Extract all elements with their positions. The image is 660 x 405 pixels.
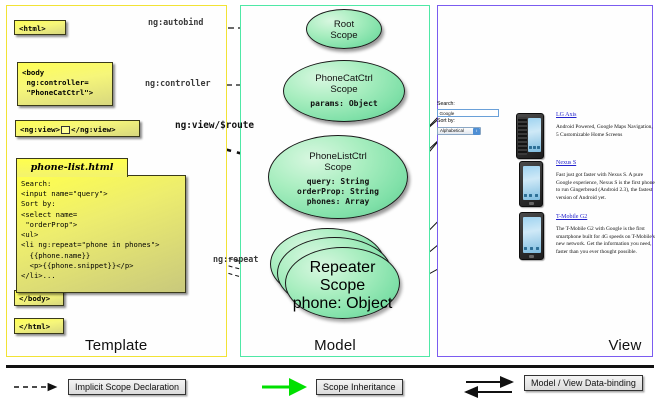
note-title: phone-list.html (16, 158, 128, 177)
ngview-placeholder-icon (61, 126, 70, 134)
scope-phonelistctrl-title-line1: PhoneListCtrl (269, 151, 407, 162)
legend-label-databinding: Model / View Data-binding (524, 375, 643, 391)
home-button-icon (529, 255, 534, 258)
sort-label: Sort by: (437, 118, 501, 126)
scope-root: Root Scope (306, 9, 382, 49)
label-ng-repeat: ng:repeat (213, 254, 258, 264)
scope-phonelistctrl: PhoneListCtrl Scope query: String orderP… (268, 135, 408, 219)
note-code: Search: <input name="query"> Sort by: <s… (16, 175, 186, 293)
scope-repeater-group: Repeater Scope phone: Object (270, 228, 400, 326)
scope-phonecatctrl-title-line2: Scope (284, 84, 404, 95)
column-label-model: Model (241, 337, 429, 354)
app-dots-icon (523, 193, 539, 198)
scope-repeater-title-line1: Repeater (286, 259, 399, 277)
app-dots-icon (529, 145, 540, 150)
scope-repeater-props: phone: Object (286, 295, 399, 313)
phone-description: The T-Mobile G2 with Google is the first… (556, 226, 656, 257)
phone-description: Fast just got faster with Nexus S. A pur… (556, 172, 656, 203)
scope-phonecatctrl: PhoneCatCtrl Scope params: Object (283, 60, 405, 122)
scope-root-title-line1: Root (307, 19, 381, 30)
ngview-open-tag: <ng:view> (20, 125, 60, 135)
phone-description: Android Powered, Google Maps Navigation,… (556, 124, 656, 139)
diagram-canvas: Template Model View <html> <body ng:cont… (0, 0, 660, 405)
scope-phonelistctrl-props: query: String orderProp: String phones: … (269, 177, 407, 208)
keyboard-icon (518, 117, 527, 155)
scope-repeater: Repeater Scope phone: Object (285, 247, 400, 319)
scope-root-title-line2: Scope (307, 30, 381, 41)
ngview-close-tag: </ng:view> (71, 125, 116, 135)
phone-thumbnail (519, 161, 543, 207)
home-button-icon (529, 202, 534, 205)
legend-divider (6, 365, 654, 368)
label-ng-controller: ng:controller (145, 78, 211, 88)
phone-name-link[interactable]: LG Axis (556, 112, 577, 118)
scope-repeater-title-line2: Scope (286, 277, 399, 295)
search-widget: Search: Google Sort by: Alphabetical ↕ (437, 101, 501, 135)
phone-name-link[interactable]: T-Mobile G2 (556, 214, 587, 220)
code-box-body-open: <body ng:controller= "PhoneCatCtrl"> (17, 62, 113, 106)
app-dots-icon (523, 246, 540, 251)
phone-thumbnail (516, 113, 544, 159)
code-box-html-close: </html> (14, 318, 64, 334)
sort-select[interactable]: Alphabetical ↕ (437, 127, 481, 136)
phone-thumbnail (519, 212, 544, 260)
scope-phonecatctrl-title-line1: PhoneCatCtrl (284, 73, 404, 84)
legend-item-implicit: Implicit Scope Declaration (68, 379, 186, 395)
legend-label-inheritance: Scope Inheritance (316, 379, 403, 395)
sort-select-value: Alphabetical (440, 127, 464, 135)
search-input[interactable]: Google (437, 109, 499, 117)
chevron-updown-icon: ↕ (473, 128, 480, 135)
legend-item-databinding: Model / View Data-binding (524, 375, 643, 391)
legend: Implicit Scope Declaration Scope Inherit… (0, 365, 660, 405)
scope-phonelistctrl-title-line2: Scope (269, 162, 407, 173)
legend-label-implicit: Implicit Scope Declaration (68, 379, 186, 395)
label-ng-autobind: ng:autobind (148, 17, 203, 27)
scope-phonecatctrl-props: params: Object (284, 99, 404, 109)
note-phone-list-html: phone-list.html Search: <input name="que… (16, 158, 186, 293)
code-box-ngview: <ng:view></ng:view> (15, 120, 140, 137)
legend-item-inheritance: Scope Inheritance (316, 379, 403, 395)
code-box-html-open: <html> (14, 20, 66, 35)
column-label-view: View (438, 337, 660, 354)
label-ng-view-route: ng:view/$route (175, 120, 254, 131)
search-label: Search: (437, 101, 501, 109)
phone-name-link[interactable]: Nexus S (556, 160, 576, 166)
